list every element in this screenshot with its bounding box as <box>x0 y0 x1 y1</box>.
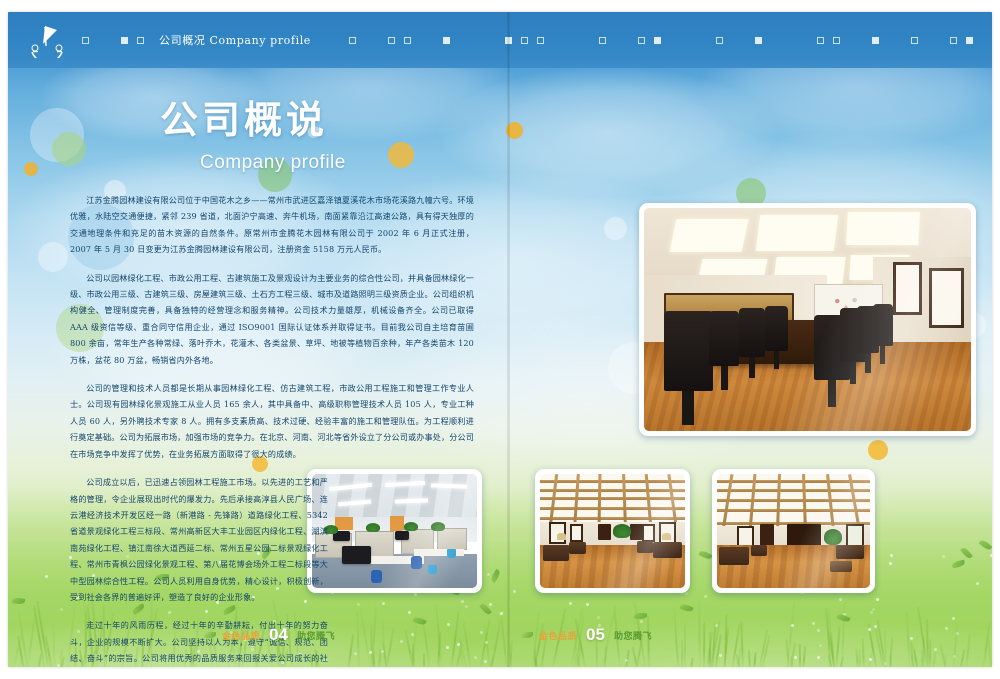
sparkle-dot <box>586 603 589 606</box>
grass-blade <box>60 649 63 667</box>
sparkle-dot <box>976 582 979 585</box>
grass-blade <box>501 615 509 667</box>
nav-square-icon-7 <box>443 37 450 44</box>
paragraph-2: 公司以园林绿化工程、市政公用工程、古建筑施工及景观设计为主要业务的综合性公司，并… <box>70 270 474 368</box>
paragraph-1: 江苏金腾园林建设有限公司位于中国花木之乡——常州市武进区嘉泽镇夏溪花木市场花溪路… <box>70 192 474 258</box>
sparkle-dot <box>474 656 477 659</box>
sparkle-dot <box>45 575 48 578</box>
sparkle-dot <box>489 603 492 606</box>
sparkle-dot <box>487 573 490 576</box>
sparkle-dot <box>890 554 893 557</box>
sparkle-dot <box>817 629 820 632</box>
page-title-cn: 公司概说 <box>160 100 346 142</box>
top-nav-strip: 公司概况 Company profile <box>82 32 992 48</box>
nav-square-icon-2 <box>121 37 128 44</box>
page-title-block: 公司概说 Company profile <box>160 100 346 174</box>
sparkle-dot <box>874 625 877 628</box>
sparkle-dot <box>990 554 992 557</box>
leaf-icon-right <box>521 632 533 638</box>
sparkle-dot <box>910 637 913 640</box>
grass-blade <box>703 622 705 667</box>
sparkle-dot <box>956 632 959 635</box>
sparkle-dot <box>484 660 487 663</box>
grass-blade <box>748 650 751 667</box>
nav-square-icon-4 <box>349 37 356 44</box>
sparkle-dot <box>953 655 956 658</box>
grass-blade <box>929 639 931 667</box>
reception-lounge-image-a <box>540 474 685 588</box>
sparkle-dot <box>942 555 945 558</box>
grass-blade <box>952 623 958 667</box>
grass-blade <box>862 639 865 667</box>
nav-square-icon-20 <box>950 37 957 44</box>
grass-blade <box>799 644 801 667</box>
sparkle-dot <box>597 616 600 619</box>
nav-square-icon-21 <box>966 37 973 44</box>
grass-blade <box>839 656 844 667</box>
reception-lounge-image-b <box>717 474 870 588</box>
nav-square-icon-19 <box>911 37 918 44</box>
conference-room-image <box>644 208 971 431</box>
nav-square-icon-14 <box>716 37 723 44</box>
reception-lounge-photo-b <box>712 469 875 593</box>
floating-leaf <box>679 603 693 613</box>
nav-square-icon-11 <box>599 37 606 44</box>
sparkle-dot <box>869 658 872 661</box>
grass-blade <box>753 652 757 667</box>
sparkle-dot <box>480 631 483 634</box>
footer-right-slogan-2: 助您腾飞 <box>614 629 652 642</box>
footer-right-slogan: 金色品质 <box>539 629 577 642</box>
grass-blade <box>690 657 694 667</box>
nav-square-icon-15 <box>755 37 762 44</box>
sparkle-dot <box>569 602 572 605</box>
sparkle-dot <box>794 656 797 659</box>
floating-leaf <box>952 560 966 569</box>
top-header-bar: 公司概况 Company profile <box>8 12 992 68</box>
grass-blade <box>802 646 806 667</box>
footer-left-slogan: 金色品质 <box>222 629 260 642</box>
sparkle-dot <box>60 608 63 611</box>
sparkle-dot <box>945 627 948 630</box>
sparkle-dot <box>719 654 722 657</box>
page-number-right: 05 <box>586 625 605 645</box>
page-number-left: 04 <box>269 625 288 645</box>
grass-blade <box>889 637 893 667</box>
nav-square-icon-17 <box>833 37 840 44</box>
nav-square-icon-9 <box>521 37 528 44</box>
sparkle-dot <box>870 611 873 614</box>
footer-left-page: 金色品质 04 助您腾飞 <box>204 625 335 645</box>
floating-leaf <box>634 613 647 620</box>
sparkle-dot <box>513 590 516 593</box>
sparkle-dot <box>839 598 842 601</box>
footer-right-page: 金色品质 05 助您腾飞 <box>521 625 652 645</box>
nav-square-icon-3 <box>137 37 144 44</box>
paragraph-3: 公司的管理和技术人员都是长期从事园林绿化工程、仿古建筑工程，市政公用工程施工和管… <box>70 380 474 462</box>
header-section-title: 公司概况 Company profile <box>159 32 311 48</box>
conference-room-photo <box>639 203 976 436</box>
floating-leaf <box>979 539 992 552</box>
nav-square-icon-12 <box>638 37 645 44</box>
nav-square-icon-10 <box>537 37 544 44</box>
reception-lounge-photo-a <box>535 469 690 593</box>
sparkle-dot <box>500 612 503 615</box>
sparkle-dot <box>868 628 871 631</box>
nav-square-icon-5 <box>388 37 395 44</box>
nav-square-icon-8 <box>505 37 512 44</box>
floating-leaf <box>489 569 501 583</box>
nav-square-icon-1 <box>82 37 89 44</box>
leaf-icon-left <box>204 632 216 638</box>
sparkle-dot <box>819 644 822 647</box>
body-text-column: 江苏金腾园林建设有限公司位于中国花木之乡——常州市武进区嘉泽镇夏溪花木市场花溪路… <box>70 192 474 667</box>
sparkle-dot <box>791 624 794 627</box>
floating-leaf <box>12 597 26 605</box>
nav-square-icon-16 <box>817 37 824 44</box>
grass-blade <box>684 624 686 667</box>
floating-leaf <box>699 549 713 560</box>
grass-blade <box>944 655 946 667</box>
sparkle-dot <box>817 656 820 659</box>
sail-logo-icon <box>26 22 68 58</box>
page-area: 公司概况 Company profile <box>8 12 992 667</box>
footer-left-slogan-2: 助您腾飞 <box>297 629 335 642</box>
sparkle-dot <box>889 562 892 565</box>
paragraph-4: 公司成立以后，已迅速占领园林工程施工市场。以先进的工艺和严格的管理，令企业展现出… <box>70 474 328 605</box>
sparkle-dot <box>715 624 718 627</box>
grass-blade <box>965 633 971 667</box>
page-title-en: Company profile <box>200 152 346 174</box>
sparkle-dot <box>812 622 815 625</box>
grass-blade <box>858 649 861 667</box>
sparkle-dot <box>685 592 688 595</box>
grass-blade <box>741 621 745 667</box>
grass-blade <box>698 600 701 667</box>
floating-leaf <box>960 546 973 560</box>
sparkle-dot <box>952 617 955 620</box>
company-logo[interactable] <box>26 22 68 58</box>
sparkle-dot <box>884 662 887 665</box>
nav-square-icon-6 <box>404 37 411 44</box>
grass-blade <box>53 623 57 667</box>
nav-square-icon-13 <box>654 37 661 44</box>
sparkle-dot <box>704 595 707 598</box>
sparkle-dot <box>876 598 879 601</box>
sparkle-dot <box>640 620 643 623</box>
brochure-spread: 公司概况 Company profile <box>0 0 1000 679</box>
grass-blade <box>932 651 936 667</box>
nav-square-icon-18 <box>872 37 879 44</box>
sparkle-dot <box>934 648 937 651</box>
